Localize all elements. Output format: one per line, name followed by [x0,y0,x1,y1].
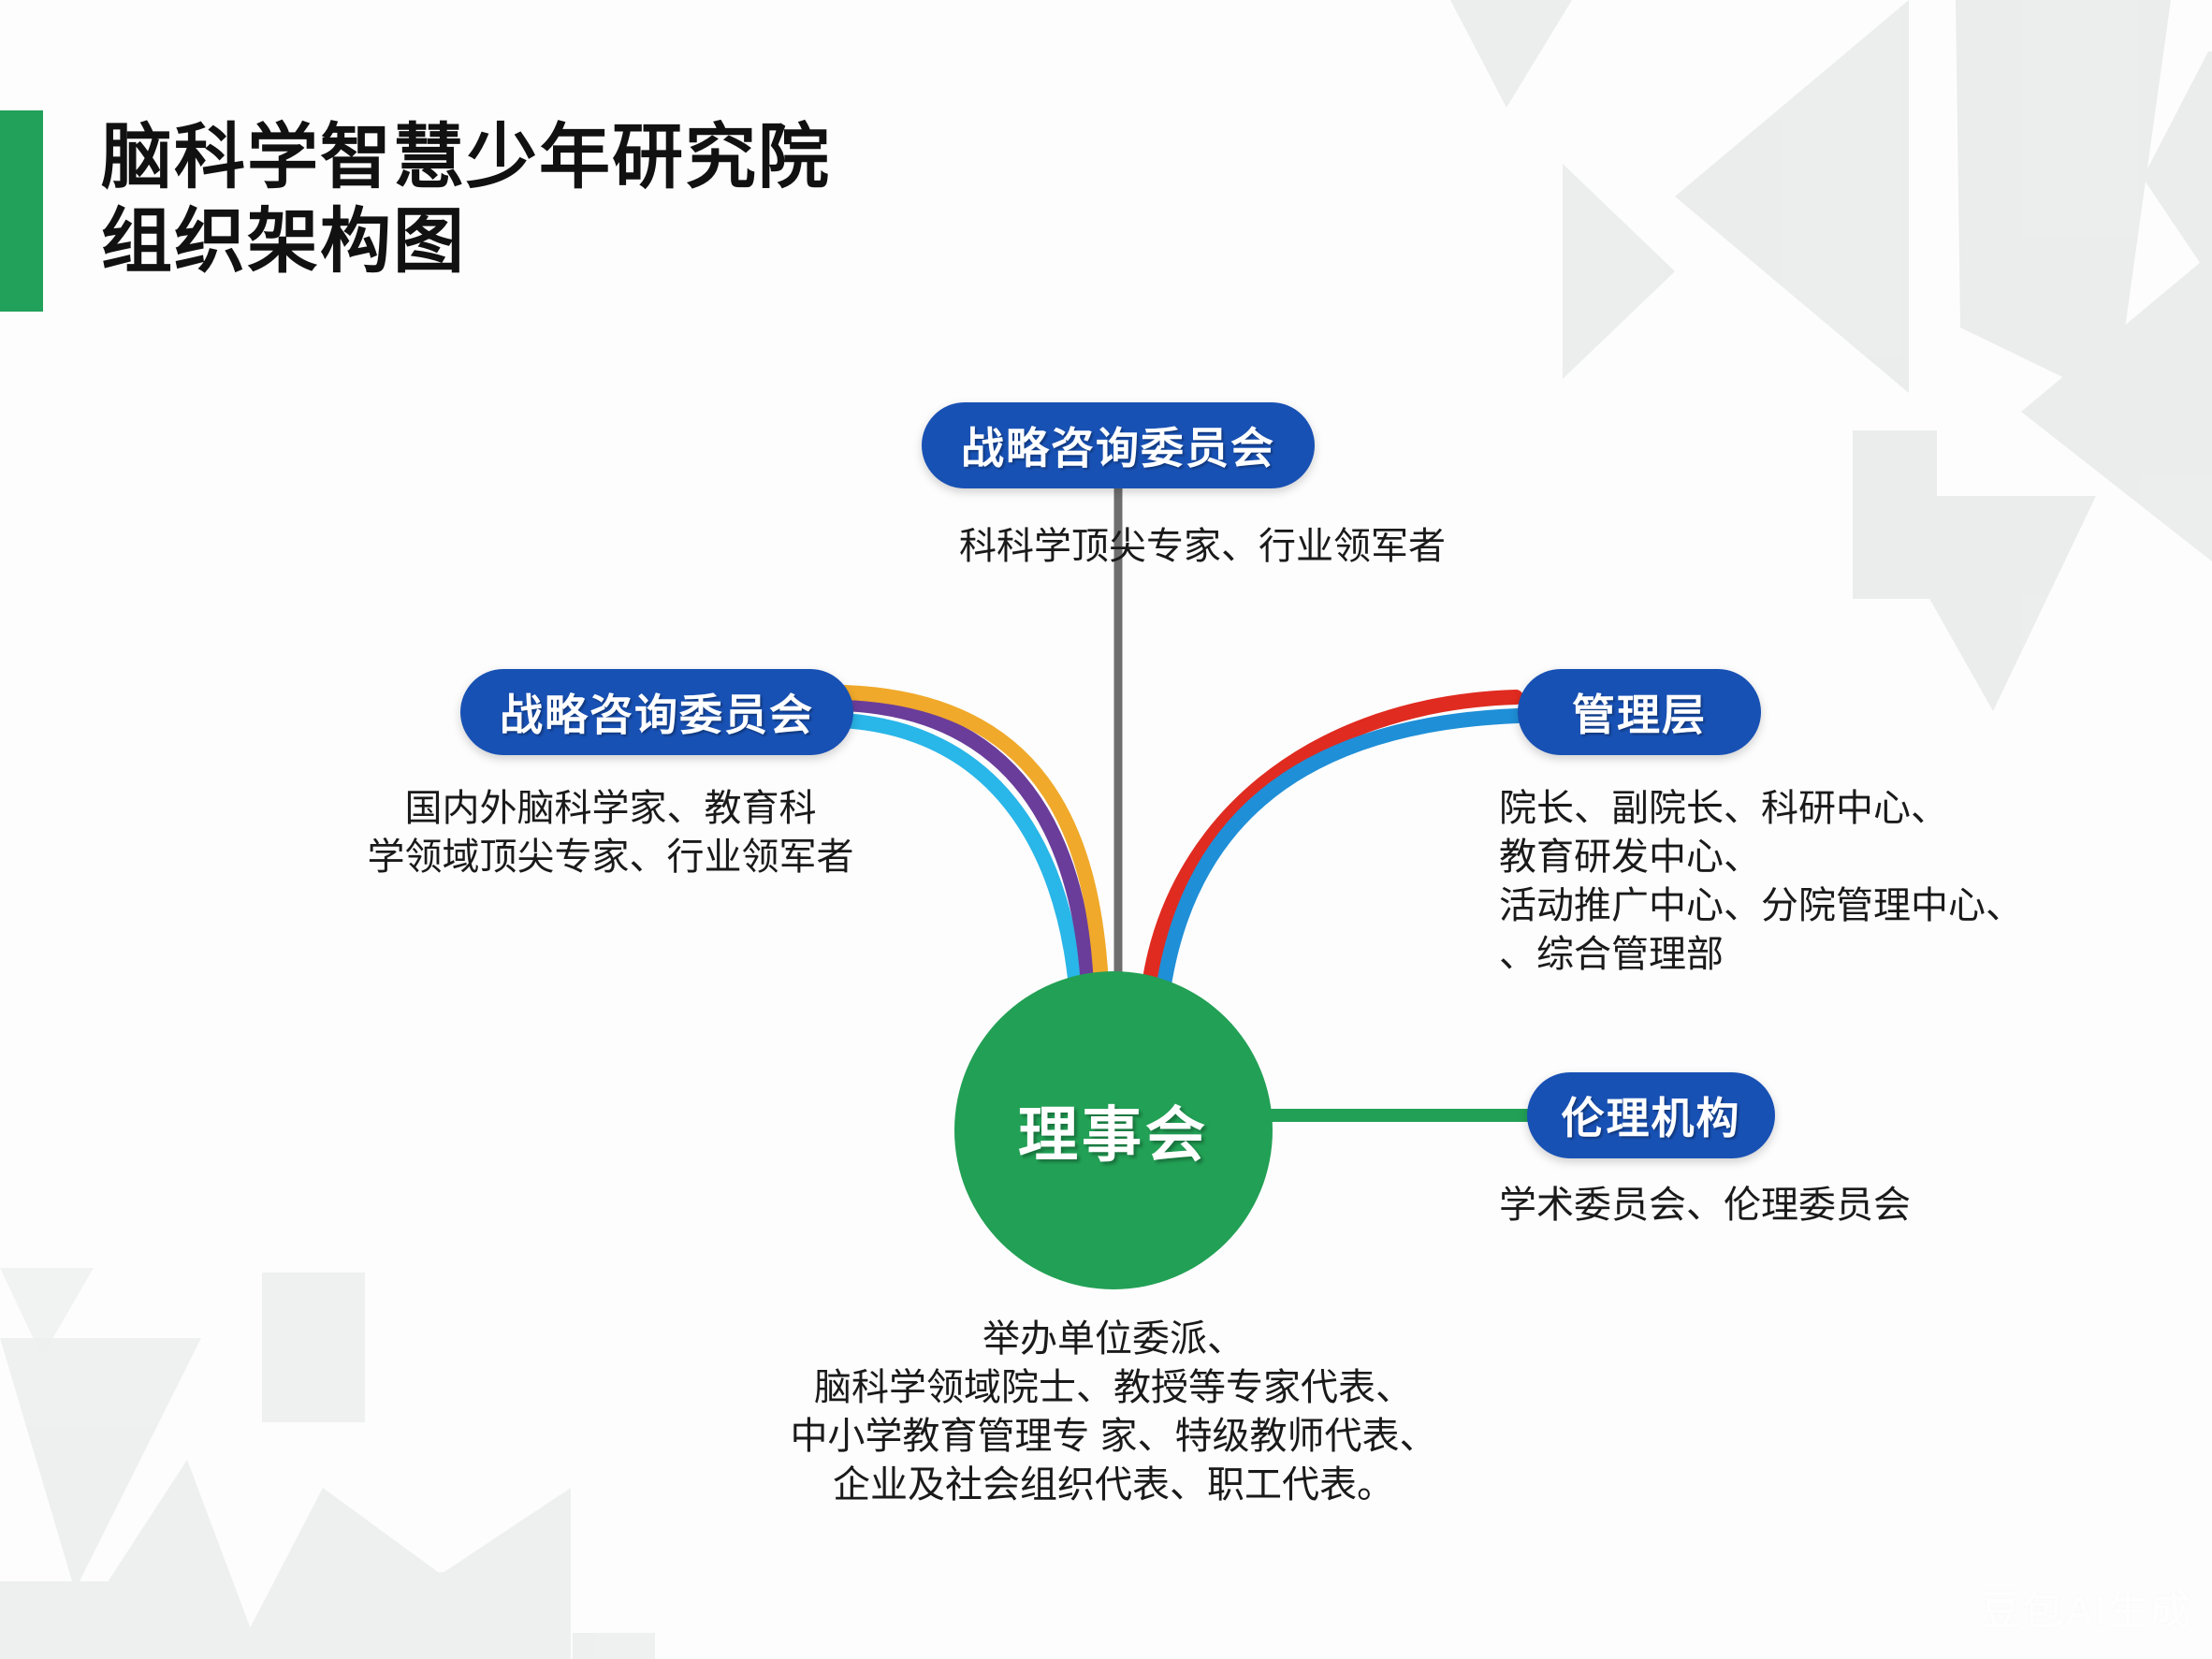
caption-line: 学术委员会、伦理委员会 [1499,1181,1911,1230]
caption-line: 中小学教育管理专 家、特级教师代表、 [711,1412,1516,1461]
node-label: 伦理机构 [1562,1084,1741,1146]
node-ethics-body[interactable]: 伦理机构 [1527,1072,1775,1158]
caption-line: 教育研发中心、 [1499,833,2023,881]
watermark: 豆包AI生成 [1980,1577,2191,1637]
caption-line: 活动推广中心、分院管理中心、 [1499,881,2023,930]
title-accent-bar [0,110,43,312]
caption-management-layer: 院长、副院长、科研中心、 教育研发中心、 活动推广中心、分院管理中心、 、综合管… [1499,784,2023,979]
page-title-line-2: 组织架构图 [101,200,831,284]
slide-canvas: 脑科学智慧少年研究院 组织架构图 战略咨询委员会 科科学顶尖专家、行业领军者 战… [0,0,2212,1659]
page-title: 脑科学智慧少年研究院 组织架构图 [101,110,831,284]
node-label: 战略咨询委员会 [500,681,814,743]
connector-left-cyan [842,720,1076,987]
node-management-layer[interactable]: 管理层 [1518,669,1761,755]
node-label: 管理层 [1572,681,1707,743]
caption-strategy-committee-top: 科科学顶尖专家、行业领军者 [959,522,1446,571]
watermark-label: 豆包AI生成 [1980,1588,2191,1634]
page-title-block: 脑科学智慧少年研究院 组织架构图 [0,110,831,312]
page-title-line-1: 脑科学智慧少年研究院 [101,116,831,200]
caption-ethics-body: 学术委员会、伦理委员会 [1499,1181,1911,1230]
caption-line: 科科学顶尖专家、行业领军者 [959,522,1446,571]
caption-line: 国内外脑科学家、教育科 [356,784,866,833]
node-strategy-committee-top[interactable]: 战略咨询委员会 [922,402,1315,488]
caption-line: 、综合管理部 [1499,930,2023,979]
node-label: 理事会 [1018,1087,1209,1173]
node-board-of-directors[interactable]: 理事会 [954,971,1273,1289]
caption-line: 脑科学领域院士、教授等专家代表、 [711,1363,1516,1412]
connector-right-blue [1163,716,1518,990]
caption-line: 举办单位委派、 [711,1315,1516,1363]
connector-right-red [1149,697,1516,985]
caption-line: 学领域顶尖专家、行业领军者 [356,833,866,881]
caption-strategy-committee-left: 国内外脑科学家、教育科 学领域顶尖专家、行业领军者 [356,784,866,881]
node-strategy-committee-left[interactable]: 战略咨询委员会 [460,669,853,755]
caption-line: 院长、副院长、科研中心、 [1499,784,2023,833]
caption-line: 企业及社会组织代表、职工代表。 [711,1461,1516,1509]
connector-left-orange [845,692,1101,984]
node-label: 战略咨询委员会 [961,415,1275,476]
caption-board-of-directors: 举办单位委派、 脑科学领域院士、教授等专家代表、 中小学教育管理专 家、特级教师… [711,1315,1516,1509]
connector-left-purple [844,704,1088,985]
